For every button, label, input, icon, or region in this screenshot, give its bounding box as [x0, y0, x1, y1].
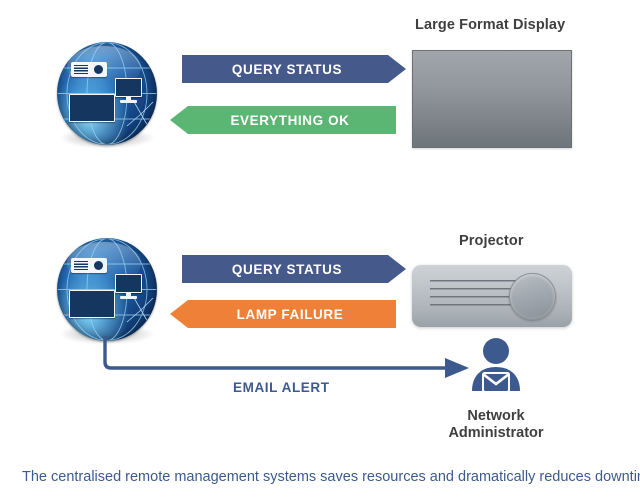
network-administrator-label-line2: Administrator [426, 425, 566, 442]
email-alert-label: EMAIL ALERT [233, 380, 330, 395]
diagram-canvas: QUERY STATUS EVERYTHING OK Large Format … [0, 0, 640, 503]
network-administrator-label: Network Administrator [426, 408, 566, 442]
network-administrator-icon [466, 337, 526, 399]
network-administrator-label-line1: Network [426, 408, 566, 425]
diagram-caption: The centralised remote management system… [22, 469, 640, 485]
